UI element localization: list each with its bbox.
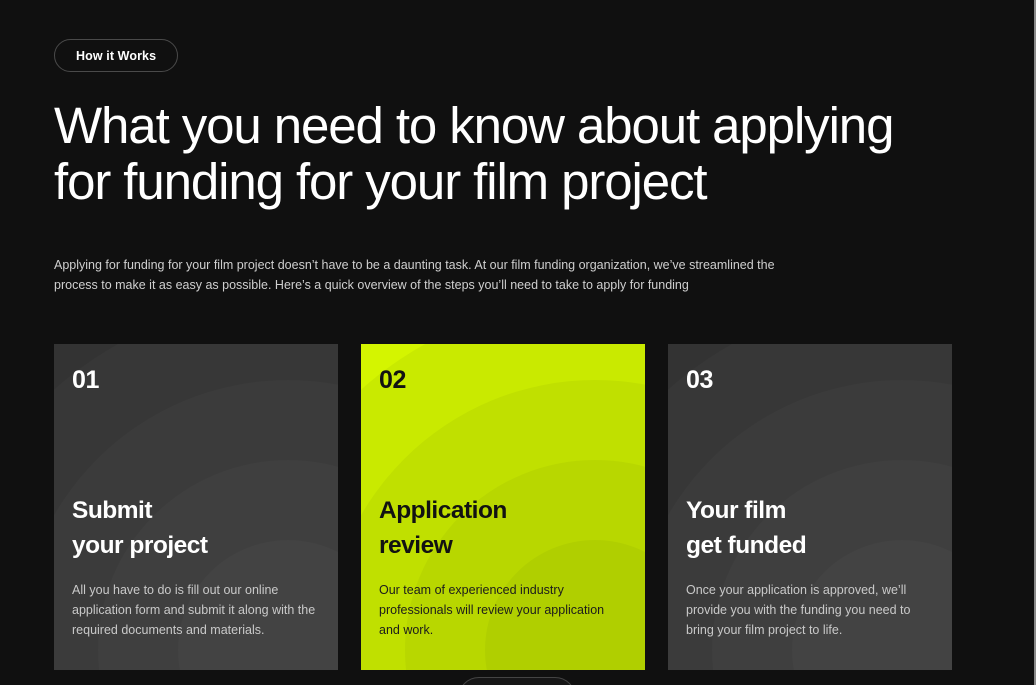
step-description: Once your application is approved, we’ll… <box>686 580 934 640</box>
step-title-line-2: your project <box>72 532 208 559</box>
step-number: 03 <box>686 368 934 393</box>
step-title-line-2: review <box>379 532 452 559</box>
intro-paragraph: Applying for funding for your film proje… <box>54 255 784 295</box>
step-card-03[interactable]: 03 Your film get funded Once your applic… <box>668 344 952 670</box>
step-card-02[interactable]: 02 Application review Our team of experi… <box>361 344 645 670</box>
step-title-line-2: get funded <box>686 532 806 559</box>
step-card-content: 02 Application review Our team of experi… <box>379 368 627 670</box>
step-description: All you have to do is fill out our onlin… <box>72 580 320 640</box>
step-title-line-1: Your film <box>686 497 786 524</box>
eyebrow-row: How it Works <box>54 0 980 72</box>
step-card-content: 03 Your film get funded Once your applic… <box>686 368 934 670</box>
bottom-cta-button[interactable] <box>458 677 576 685</box>
page-title: What you need to know about applying for… <box>54 98 954 210</box>
step-number: 02 <box>379 368 627 393</box>
page-title-line-1: What you need to know about applying <box>54 97 893 154</box>
page-title-line-2: for funding for your film project <box>54 153 707 210</box>
step-number: 01 <box>72 368 320 393</box>
step-title-line-1: Submit <box>72 497 152 524</box>
step-title: Submit your project <box>72 493 320 563</box>
step-title: Your film get funded <box>686 493 934 563</box>
how-it-works-section: How it Works What you need to know about… <box>0 0 1034 685</box>
step-card-content: 01 Submit your project All you have to d… <box>72 368 320 670</box>
eyebrow-pill[interactable]: How it Works <box>54 39 178 72</box>
step-title-line-1: Application <box>379 497 507 524</box>
step-description: Our team of experienced industry profess… <box>379 580 627 640</box>
step-card-01[interactable]: 01 Submit your project All you have to d… <box>54 344 338 670</box>
step-title: Application review <box>379 493 627 563</box>
steps-card-list: 01 Submit your project All you have to d… <box>54 344 952 670</box>
